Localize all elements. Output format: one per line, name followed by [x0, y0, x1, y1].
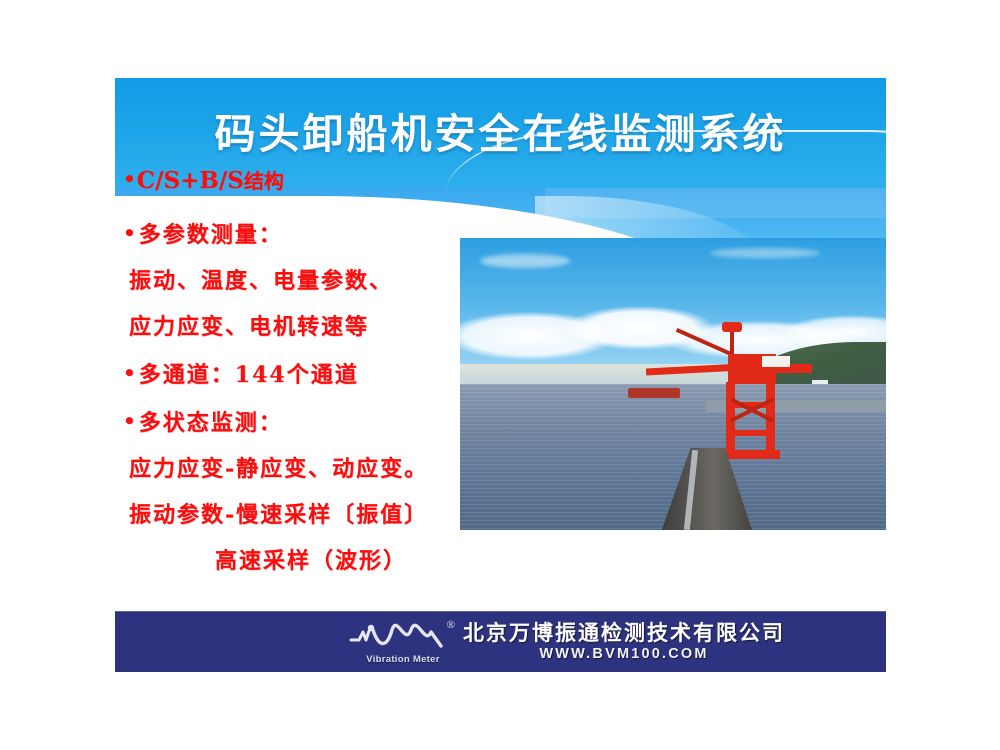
vibration-wave-logo-icon: ® Vibration Meter — [349, 620, 453, 664]
photo-crane — [688, 326, 808, 456]
ship-unloader-photo — [460, 238, 886, 530]
bullet-marker-icon: • — [123, 221, 138, 245]
bullet-states-label: 多状态监测： — [139, 410, 283, 436]
parameter-line-2: 应力应变、电机转速等 — [123, 312, 483, 343]
registered-mark-icon: ® — [447, 619, 455, 631]
crane-cross-brace — [726, 430, 775, 436]
detail-line-vibration-slow: 振动参数-慢速采样〔振值〕 — [123, 500, 483, 531]
presentation-slide: 码头卸船机安全在线监测系统 •C/S+B/S结构 •多参数测量： 振动、温度、电… — [115, 78, 886, 672]
crane-base-sill — [722, 450, 780, 459]
page-title: 码头卸船机安全在线监测系统 — [115, 100, 886, 160]
bullet-architecture-zh: 结构 — [244, 169, 284, 193]
bullet-architecture: •C/S+B/S结构 — [123, 164, 483, 196]
bullet-states: •多状态监测： — [123, 406, 483, 439]
photo-cloud-wisp — [710, 248, 820, 258]
bullet-architecture-latin: C/S+B/S — [137, 167, 244, 194]
company-name: 北京万博振通检测技术有限公司 — [463, 621, 785, 645]
bullet-channels: •多通道：144个通道 — [123, 358, 483, 391]
bullet-list: •C/S+B/S结构 •多参数测量： 振动、温度、电量参数、 应力应变、电机转速… — [123, 164, 483, 577]
bullet-marker-icon: • — [123, 409, 138, 433]
footer-text-block: 北京万博振通检测技术有限公司 WWW.BVM100.COM — [463, 621, 785, 663]
bullet-multiparameter-label: 多参数测量： — [139, 222, 283, 248]
crane-signboard — [762, 356, 790, 367]
logo-wordmark: Vibration Meter — [353, 654, 453, 665]
photo-cloud-wisp — [480, 254, 570, 268]
bullet-marker-icon: • — [123, 167, 136, 191]
bullet-marker-icon: • — [123, 361, 138, 385]
company-website: WWW.BVM100.COM — [463, 645, 785, 663]
photo-distant-vessel — [628, 388, 680, 398]
crane-mast-head — [722, 322, 742, 332]
bullet-multiparameter: •多参数测量： — [123, 218, 483, 251]
detail-line-strain: 应力应变-静应变、动应变。 — [123, 454, 483, 485]
parameter-line-1: 振动、温度、电量参数、 — [123, 266, 483, 297]
footer-bar: ® Vibration Meter 北京万博振通检测技术有限公司 WWW.BVM… — [115, 611, 886, 672]
bullet-channels-label: 多通道：144个通道 — [139, 362, 359, 388]
slide-canvas: 码头卸船机安全在线监测系统 •C/S+B/S结构 •多参数测量： 振动、温度、电… — [0, 0, 1000, 750]
detail-line-vibration-fast: 高速采样（波形） — [123, 546, 483, 577]
